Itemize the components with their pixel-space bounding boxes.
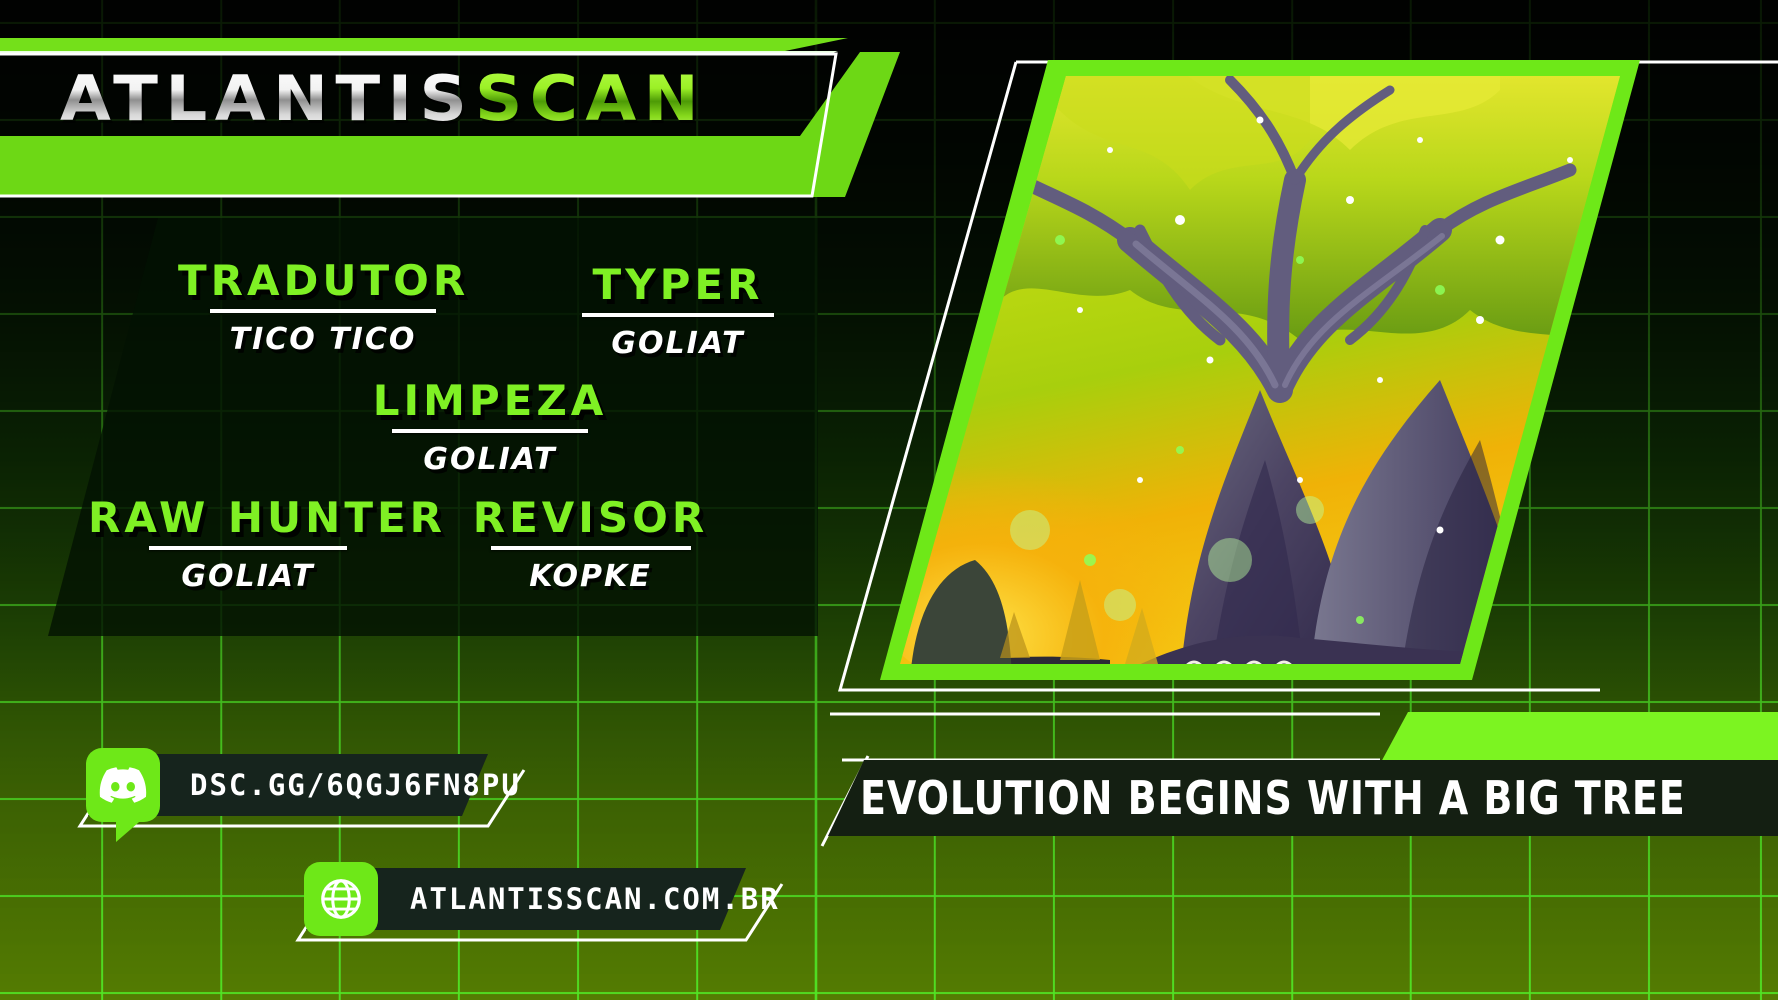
credit-role-revisor: REVISOR KOPKE: [448, 493, 733, 594]
credits-list: TRADUTOR TICO TICO TYPER GOLIAT LIMPEZA …: [48, 218, 818, 636]
credit-role-limpeza: LIMPEZA GOLIAT: [360, 376, 620, 477]
credit-role-name: GOLIAT: [88, 559, 408, 594]
credit-role-raw-hunter: RAW HUNTER GOLIAT: [88, 493, 408, 594]
discord-icon: [86, 748, 160, 822]
credit-role-title: TYPER: [548, 260, 808, 309]
discord-url-label: DSC.GG/6QGJ6FN8PU: [190, 768, 521, 802]
credit-role-title: LIMPEZA: [360, 376, 620, 425]
brand-name-secondary: SCAN: [475, 62, 706, 135]
website-url-label: ATLANTISSCAN.COM.BR: [410, 882, 780, 916]
credit-divider: [491, 546, 691, 550]
globe-icon: [304, 862, 378, 936]
discord-link[interactable]: DSC.GG/6QGJ6FN8PU: [40, 748, 520, 822]
credit-divider: [582, 313, 774, 317]
credit-role-name: GOLIAT: [548, 326, 808, 361]
credit-role-title: RAW HUNTER: [88, 493, 408, 542]
brand-name-primary: ATLANTIS: [60, 62, 474, 135]
page-title: ATLANTIS SCAN: [60, 52, 820, 144]
website-link[interactable]: ATLANTISSCAN.COM.BR: [258, 862, 778, 936]
credit-divider: [149, 546, 347, 550]
credit-role-typer: TYPER GOLIAT: [548, 260, 808, 361]
credit-role-name: KOPKE: [448, 559, 733, 594]
credits-page: ATLANTIS SCAN TRADUTOR TICO TICO TYPER G…: [0, 0, 1778, 1000]
chapter-title: EVOLUTION BEGINS WITH A BIG TREE: [860, 760, 1706, 836]
credit-divider: [210, 309, 436, 313]
credit-role-name: TICO TICO: [178, 322, 468, 357]
credit-role-title: REVISOR: [448, 493, 733, 542]
credit-role-name: GOLIAT: [360, 442, 620, 477]
credit-role-tradutor: TRADUTOR TICO TICO: [178, 256, 468, 357]
credit-role-title: TRADUTOR: [178, 256, 468, 305]
credit-divider: [392, 429, 588, 433]
footer-accent-top: [1380, 712, 1778, 764]
header-top-stripe: [0, 38, 848, 52]
